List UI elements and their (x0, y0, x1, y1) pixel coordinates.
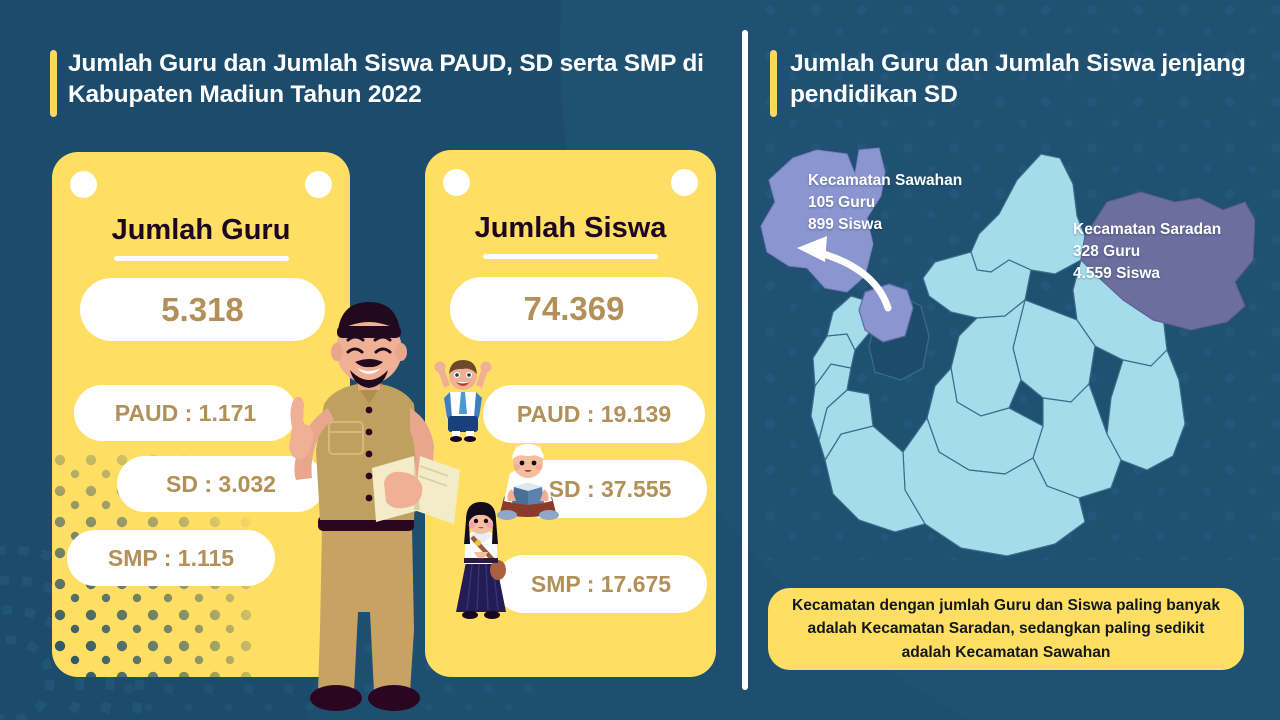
siswa-smp-pill: SMP : 17.675 (495, 555, 707, 613)
card-divider-rule (483, 254, 658, 259)
card-punch-hole-right (671, 169, 698, 196)
card-punch-hole-left (443, 169, 470, 196)
card-punch-hole-left (70, 171, 97, 198)
right-title-accent-bar (770, 50, 777, 117)
card-heading-siswa: Jumlah Siswa (425, 212, 716, 245)
student-paud-illustration (430, 358, 496, 442)
card-heading-guru: Jumlah Guru (52, 214, 350, 247)
map-label-sawahan: Kecamatan Sawahan 105 Guru 899 Siswa (808, 170, 962, 236)
card-punch-hole-right (305, 171, 332, 198)
siswa-total-pill: 74.369 (450, 277, 698, 341)
left-title-accent-bar (50, 50, 57, 117)
map-label-sawahan-students: 899 Siswa (808, 214, 962, 236)
map-label-sawahan-name: Kecamatan Sawahan (808, 170, 962, 192)
map-caption-text: Kecamatan dengan jumlah Guru dan Siswa p… (782, 594, 1230, 663)
left-panel-title: Jumlah Guru dan Jumlah Siswa PAUD, SD se… (68, 48, 728, 111)
map-label-sawahan-teachers: 105 Guru (808, 192, 962, 214)
map-label-saradan-teachers: 328 Guru (1073, 241, 1221, 263)
map-label-saradan: Kecamatan Saradan 328 Guru 4.559 Siswa (1073, 219, 1221, 285)
card-divider-rule (114, 256, 289, 261)
map-label-saradan-name: Kecamatan Saradan (1073, 219, 1221, 241)
map-label-saradan-students: 4.559 Siswa (1073, 263, 1221, 285)
panel-divider (742, 30, 748, 690)
guru-smp-pill: SMP : 1.115 (67, 530, 275, 586)
right-panel-title: Jumlah Guru dan Jumlah Siswa jenjang pen… (790, 48, 1260, 111)
student-smp-illustration (448, 500, 514, 622)
map-caption-box: Kecamatan dengan jumlah Guru dan Siswa p… (768, 588, 1244, 670)
siswa-paud-pill: PAUD : 19.139 (483, 385, 705, 443)
